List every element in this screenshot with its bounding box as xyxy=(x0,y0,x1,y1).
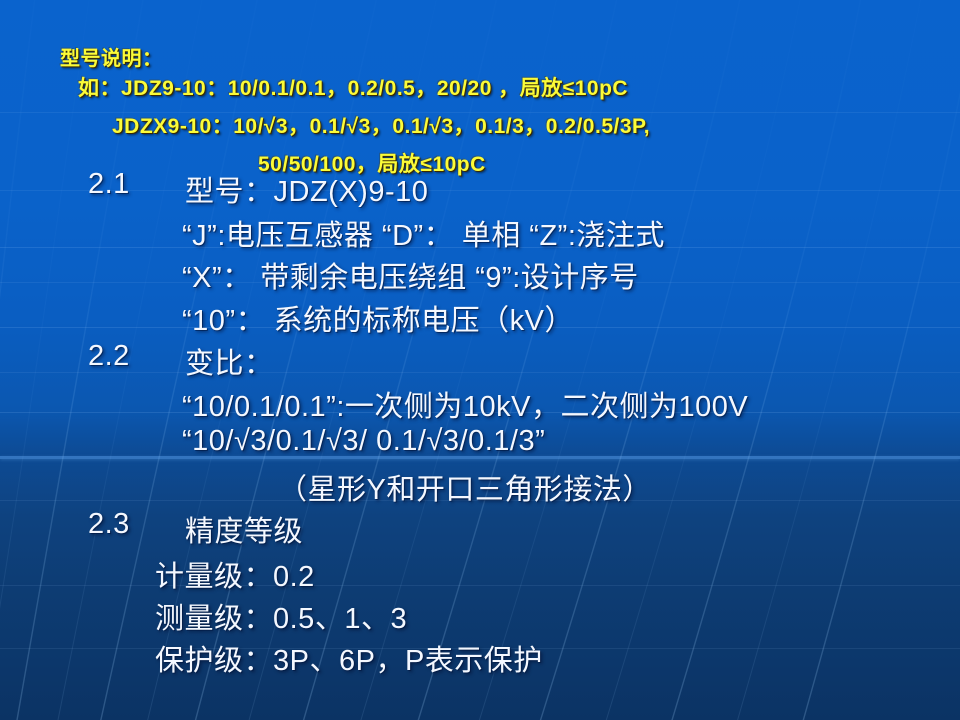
section-title-2-2: 变比： xyxy=(185,340,274,382)
slide-heading: 型号说明： xyxy=(60,42,163,71)
section-2-3-line-3: 保护级：3P、6P，P表示保护 xyxy=(155,637,543,679)
section-title-2-1: 型号：JDZ(X)9-10 xyxy=(185,168,428,210)
section-title-2-3: 精度等级 xyxy=(185,508,303,550)
example-line-2: JDZX9-10：10/√3，0.1/√3，0.1/√3，0.1/3，0.2/0… xyxy=(112,110,650,140)
example-line-1: 如：JDZ9-10：10/0.1/0.1，0.2/0.5，20/20 ，局放≤1… xyxy=(78,72,628,102)
section-2-2-line-2: “10/√3/0.1/√3/ 0.1/√3/0.1/3” xyxy=(182,425,545,458)
section-number-2-1: 2.1 xyxy=(88,168,130,201)
slide-text-content: 型号说明： 如：JDZ9-10：10/0.1/0.1，0.2/0.5，20/20… xyxy=(0,0,960,720)
section-2-2-line-3: （星形Y和开口三角形接法） xyxy=(278,466,652,508)
section-2-3-line-1: 计量级：0.2 xyxy=(155,553,315,595)
section-2-1-line-1: “J”:电压互感器 “D”： 单相 “Z”:浇注式 xyxy=(182,212,665,254)
section-2-1-line-3: “10”： 系统的标称电压（kV） xyxy=(182,297,574,339)
section-2-3-line-2: 测量级：0.5、1、3 xyxy=(155,595,407,637)
section-2-1-line-2: “X”： 带剩余电压绕组 “9”:设计序号 xyxy=(182,254,639,296)
slide-canvas: 型号说明： 如：JDZ9-10：10/0.1/0.1，0.2/0.5，20/20… xyxy=(0,0,960,720)
section-number-2-3: 2.3 xyxy=(88,508,130,541)
section-2-2-line-1: “10/0.1/0.1”:一次侧为10kV，二次侧为100V xyxy=(182,383,748,425)
section-number-2-2: 2.2 xyxy=(88,340,130,373)
